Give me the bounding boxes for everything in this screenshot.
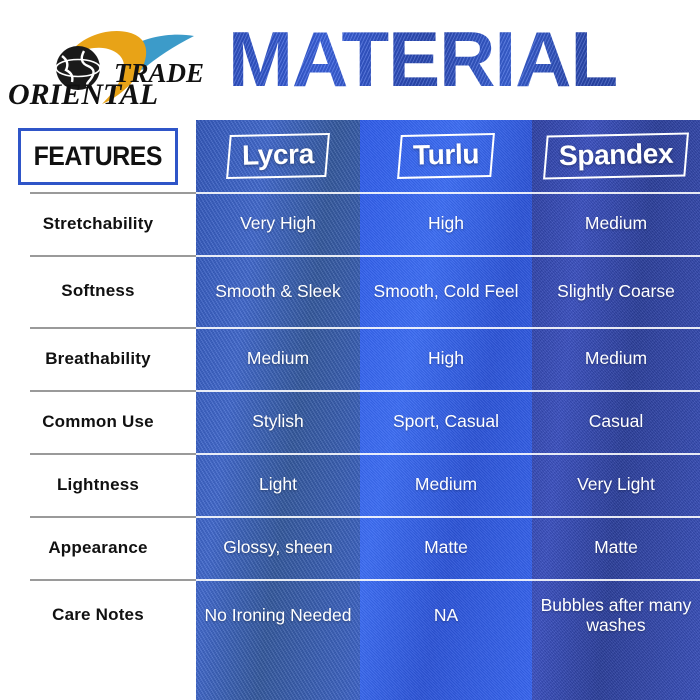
column-header-label-spandex: Spandex <box>559 138 674 172</box>
cell-turlu: Sport, Casual <box>360 390 532 453</box>
cell-lycra: Smooth & Sleek <box>196 255 360 327</box>
cell-turlu: Smooth, Cold Feel <box>360 255 532 327</box>
features-header-cell: FEATURES <box>0 120 196 192</box>
row-divider-light <box>196 390 700 392</box>
table-row: Softness Smooth & Sleek Smooth, Cold Fee… <box>0 255 700 327</box>
row-divider-light <box>196 192 700 194</box>
row-divider-light <box>196 255 700 257</box>
oriental-trade-logo: ORIENTAL TRADE <box>6 18 216 110</box>
row-divider-light <box>196 579 700 581</box>
column-header-turlu: Turlu <box>360 120 532 192</box>
column-header-lycra: Lycra <box>196 120 360 192</box>
row-label: Stretchability <box>0 192 196 255</box>
cell-turlu: High <box>360 327 532 390</box>
row-divider <box>30 579 196 581</box>
table-row: Breathability Medium High Medium <box>0 327 700 390</box>
cell-lycra: Stylish <box>196 390 360 453</box>
row-label: Common Use <box>0 390 196 453</box>
row-label: Breathability <box>0 327 196 390</box>
table-row: Common Use Stylish Sport, Casual Casual <box>0 390 700 453</box>
row-label: Lightness <box>0 453 196 516</box>
row-divider-light <box>196 327 700 329</box>
table-row: Lightness Light Medium Very Light <box>0 453 700 516</box>
table-row: Care Notes No Ironing Needed NA Bubbles … <box>0 579 700 651</box>
column-header-box-lycra: Lycra <box>226 133 330 179</box>
cell-turlu: High <box>360 192 532 255</box>
page-title: MATERIAL <box>228 17 694 101</box>
cell-spandex: Matte <box>532 516 700 579</box>
cell-lycra: Glossy, sheen <box>196 516 360 579</box>
row-label: Appearance <box>0 516 196 579</box>
cell-spandex: Medium <box>532 192 700 255</box>
features-header-box: FEATURES <box>18 128 178 185</box>
cell-spandex: Casual <box>532 390 700 453</box>
cell-lycra: Light <box>196 453 360 516</box>
row-divider <box>30 516 196 518</box>
logo-text-trade: TRADE <box>114 58 204 88</box>
row-divider <box>30 453 196 455</box>
row-divider-light <box>196 453 700 455</box>
column-header-spandex: Spandex <box>532 120 700 192</box>
column-header-box-turlu: Turlu <box>397 133 495 179</box>
cell-turlu: Matte <box>360 516 532 579</box>
cell-spandex: Slightly Coarse <box>532 255 700 327</box>
column-header-box-spandex: Spandex <box>543 133 689 180</box>
row-divider <box>30 390 196 392</box>
cell-lycra: Very High <box>196 192 360 255</box>
column-header-label-turlu: Turlu <box>413 138 480 171</box>
material-comparison-page: ORIENTAL TRADE MATERIAL FEATURES <box>0 0 700 700</box>
column-header-label-lycra: Lycra <box>242 138 315 171</box>
table-header-row: FEATURES Lycra Turlu Spandex <box>0 120 700 192</box>
cell-lycra: Medium <box>196 327 360 390</box>
cell-lycra: No Ironing Needed <box>196 579 360 651</box>
cell-spandex: Bubbles after many washes <box>532 579 700 651</box>
cell-spandex: Medium <box>532 327 700 390</box>
row-divider <box>30 327 196 329</box>
table-row: Appearance Glossy, sheen Matte Matte <box>0 516 700 579</box>
row-divider-light <box>196 516 700 518</box>
row-divider <box>30 255 196 257</box>
cell-spandex: Very Light <box>532 453 700 516</box>
material-comparison-table: FEATURES Lycra Turlu Spandex <box>0 120 700 700</box>
row-label: Care Notes <box>0 579 196 651</box>
row-divider <box>30 192 196 194</box>
row-label: Softness <box>0 255 196 327</box>
features-header-label: FEATURES <box>34 141 162 172</box>
cell-turlu: Medium <box>360 453 532 516</box>
table-row: Stretchability Very High High Medium <box>0 192 700 255</box>
cell-turlu: NA <box>360 579 532 651</box>
page-header: ORIENTAL TRADE MATERIAL <box>0 0 700 120</box>
table-grid: FEATURES Lycra Turlu Spandex <box>0 120 700 700</box>
